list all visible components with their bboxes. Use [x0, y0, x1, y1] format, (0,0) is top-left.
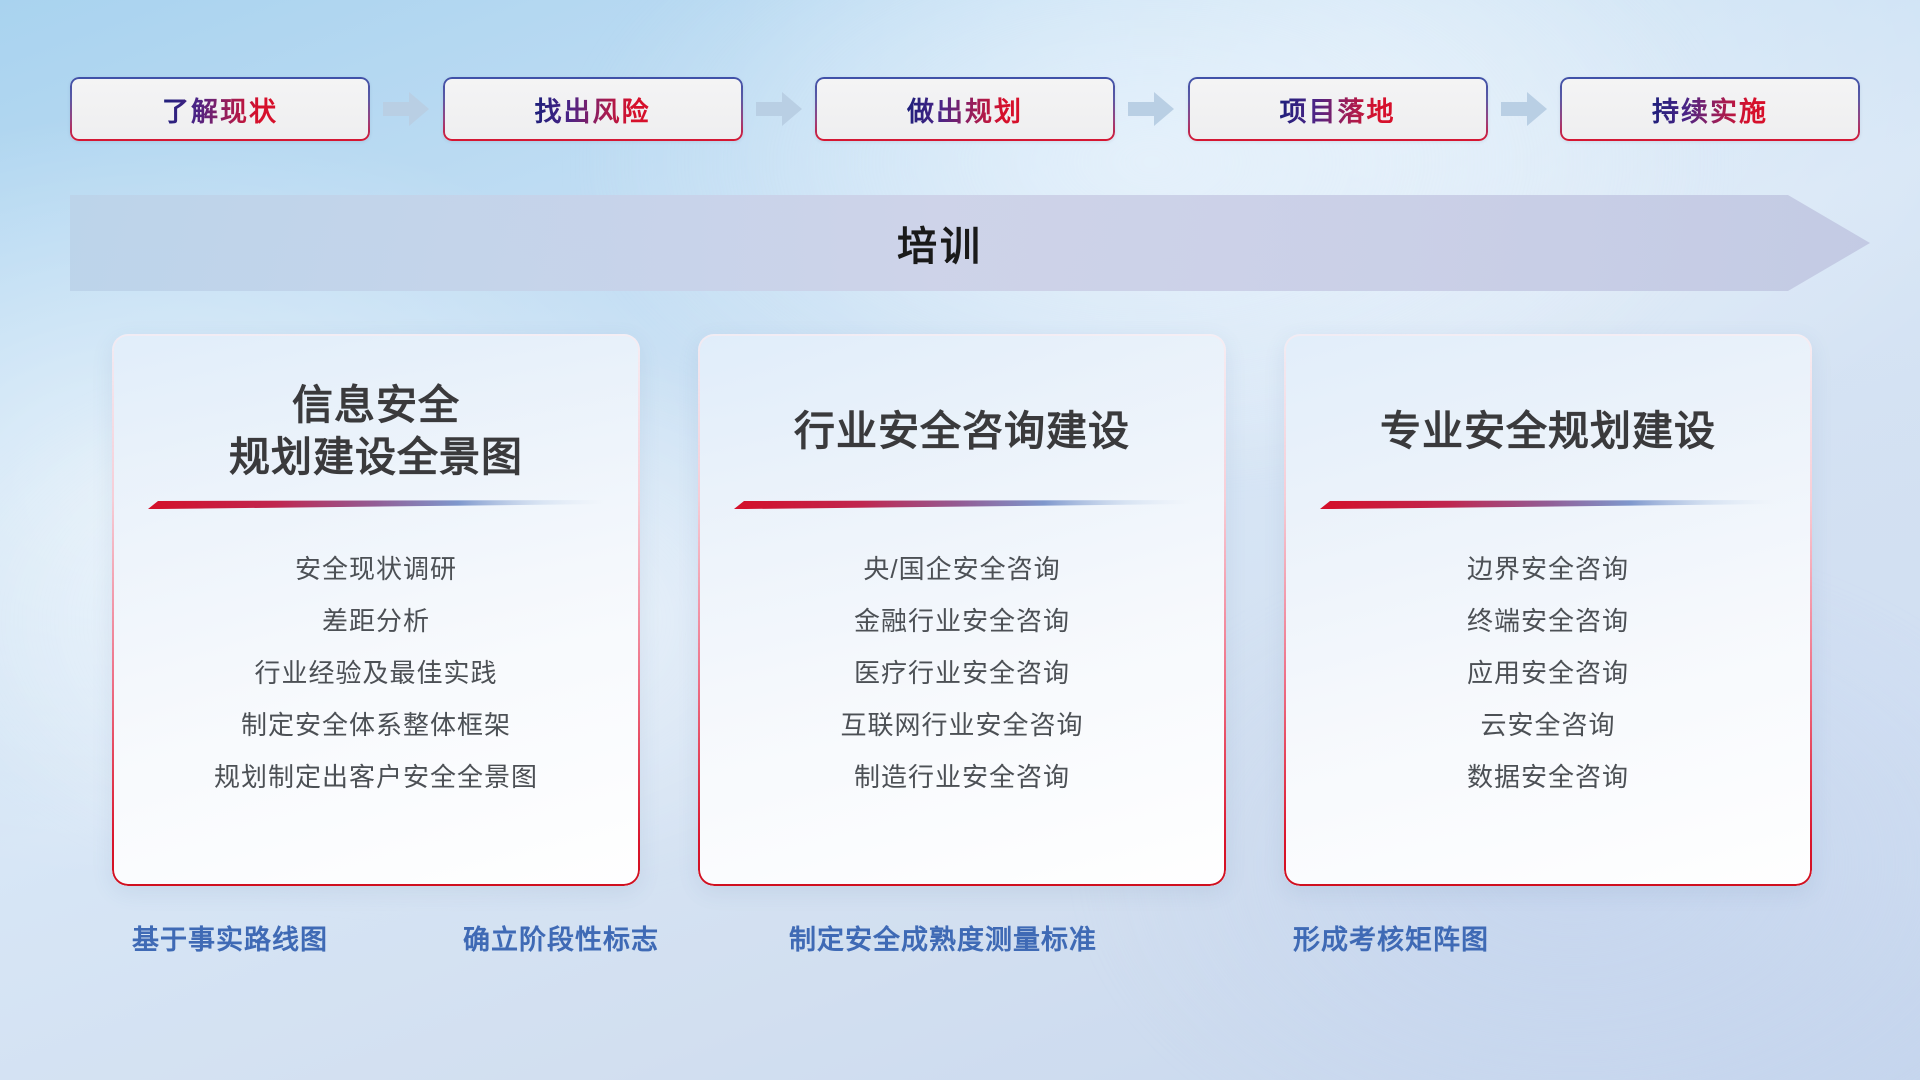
card-row: 信息安全 规划建设全景图 安 [112, 334, 1812, 886]
process-step-label: 了解现状 [162, 90, 278, 129]
process-step-row: 了解现状 找出风险 做出规划 项目落地 持续实施 [70, 76, 1860, 142]
list-item: 互联网行业安全咨询 [724, 699, 1200, 751]
process-step-label: 项目落地 [1280, 90, 1396, 129]
list-item: 央/国企安全咨询 [724, 543, 1200, 595]
arrow-right-icon [756, 92, 802, 126]
list-item: 规划制定出客户安全全景图 [138, 751, 614, 803]
arrow-right-icon [1501, 92, 1547, 126]
list-item: 制定安全体系整体框架 [138, 699, 614, 751]
card-divider [734, 500, 1190, 509]
card-professional-security-planning[interactable]: 专业安全规划建设 边界安全咨 [1284, 334, 1812, 886]
card-information-security-blueprint[interactable]: 信息安全 规划建设全景图 安 [112, 334, 640, 886]
banner-title: 培训 [70, 195, 1870, 291]
card-item-list: 边界安全咨询 终端安全咨询 应用安全咨询 云安全咨询 数据安全咨询 [1310, 543, 1786, 803]
list-item: 安全现状调研 [138, 543, 614, 595]
list-item: 云安全咨询 [1310, 699, 1786, 751]
process-step-1[interactable]: 了解现状 [70, 77, 370, 141]
card-item-list: 央/国企安全咨询 金融行业安全咨询 医疗行业安全咨询 互联网行业安全咨询 制造行… [724, 543, 1200, 803]
list-item: 数据安全咨询 [1310, 751, 1786, 803]
slide-stage: 了解现状 找出风险 做出规划 项目落地 持续实施 [0, 0, 1920, 1080]
card-divider [1320, 500, 1776, 509]
process-step-5[interactable]: 持续实施 [1560, 77, 1860, 141]
list-item: 制造行业安全咨询 [724, 751, 1200, 803]
list-item: 医疗行业安全咨询 [724, 647, 1200, 699]
list-item: 应用安全咨询 [1310, 647, 1786, 699]
footer-caption: 确立阶段性标志 [463, 918, 659, 957]
footer-caption-row: 基于事实路线图 确立阶段性标志 制定安全成熟度测量标准 形成考核矩阵图 [0, 918, 1920, 962]
card-item-list: 安全现状调研 差距分析 行业经验及最佳实践 制定安全体系整体框架 规划制定出客户… [138, 543, 614, 803]
process-step-3[interactable]: 做出规划 [815, 77, 1115, 141]
process-step-label: 做出规划 [907, 90, 1023, 129]
process-step-label: 持续实施 [1652, 90, 1768, 129]
arrow-right-icon [383, 92, 429, 126]
card-divider [148, 500, 604, 509]
footer-caption: 制定安全成熟度测量标准 [789, 918, 1097, 957]
process-step-4[interactable]: 项目落地 [1188, 77, 1488, 141]
card-title: 信息安全 规划建设全景图 [229, 378, 523, 486]
list-item: 差距分析 [138, 595, 614, 647]
footer-caption: 基于事实路线图 [132, 918, 328, 957]
list-item: 终端安全咨询 [1310, 595, 1786, 647]
footer-caption: 形成考核矩阵图 [1293, 918, 1489, 957]
list-item: 边界安全咨询 [1310, 543, 1786, 595]
card-title: 专业安全规划建设 [1380, 378, 1716, 486]
arrow-right-icon [1128, 92, 1174, 126]
training-banner: 培训 [70, 195, 1870, 291]
list-item: 金融行业安全咨询 [724, 595, 1200, 647]
list-item: 行业经验及最佳实践 [138, 647, 614, 699]
card-industry-security-consulting[interactable]: 行业安全咨询建设 央/国企安 [698, 334, 1226, 886]
card-title: 行业安全咨询建设 [794, 378, 1130, 486]
process-step-label: 找出风险 [535, 90, 651, 129]
process-step-2[interactable]: 找出风险 [443, 77, 743, 141]
